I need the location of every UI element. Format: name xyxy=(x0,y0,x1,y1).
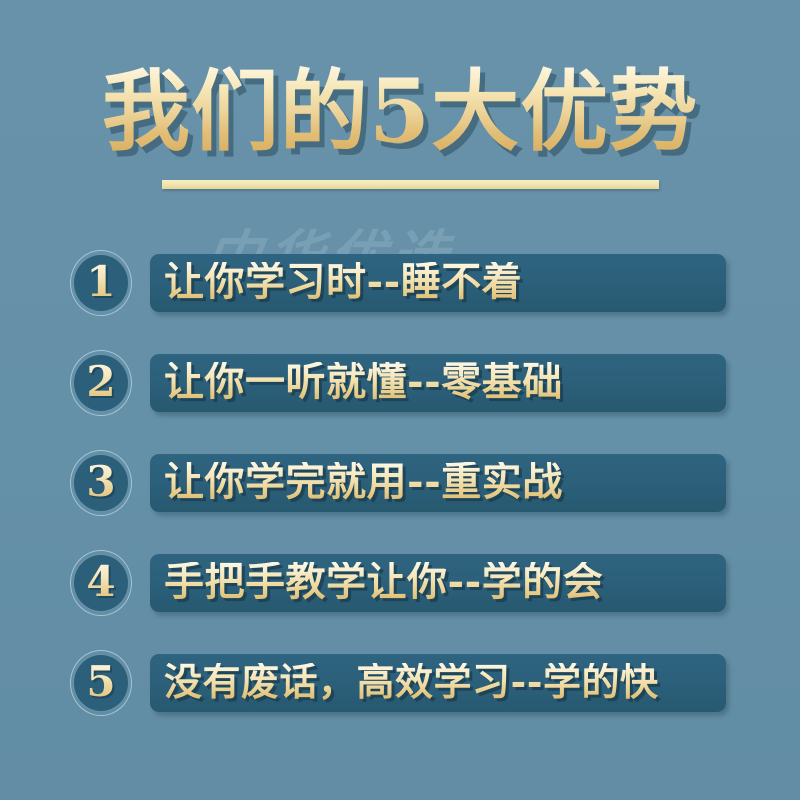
badge-number: 1 xyxy=(86,261,115,305)
advantage-list: 1 让你学习时--睡不着 2 让你一听就懂--零基础 3 让你学 xyxy=(0,0,800,800)
advantage-label: 没有废话，高效学习--学的快 xyxy=(164,663,659,701)
advantage-bar[interactable]: 让你学完就用--重实战 xyxy=(150,454,726,512)
badge-number: 5 xyxy=(86,661,115,705)
badge-number: 4 xyxy=(86,561,115,605)
promo-poster: 中华优选 我们的5大优势 1 让你学习时--睡不着 2 让你一听就懂--零基础 xyxy=(0,0,800,800)
list-item[interactable]: 4 手把手教学让你--学的会 xyxy=(0,551,800,615)
number-badge: 2 xyxy=(70,350,132,416)
number-badge: 4 xyxy=(70,550,132,616)
list-item[interactable]: 2 让你一听就懂--零基础 xyxy=(0,351,800,415)
advantage-label: 手把手教学让你--学的会 xyxy=(164,562,603,602)
list-item[interactable]: 3 让你学完就用--重实战 xyxy=(0,451,800,515)
list-item[interactable]: 5 没有废话，高效学习--学的快 xyxy=(0,651,800,715)
number-badge: 5 xyxy=(70,650,132,716)
number-badge: 1 xyxy=(70,250,132,316)
badge-number: 2 xyxy=(86,361,115,405)
advantage-bar[interactable]: 让你一听就懂--零基础 xyxy=(150,354,726,412)
advantage-bar[interactable]: 没有废话，高效学习--学的快 xyxy=(150,654,726,712)
advantage-bar[interactable]: 手把手教学让你--学的会 xyxy=(150,554,726,612)
list-item[interactable]: 1 让你学习时--睡不着 xyxy=(0,251,800,315)
advantage-label: 让你学完就用--重实战 xyxy=(164,462,563,502)
number-badge: 3 xyxy=(70,450,132,516)
advantage-label: 让你学习时--睡不着 xyxy=(164,262,522,302)
badge-number: 3 xyxy=(86,461,115,505)
advantage-bar[interactable]: 让你学习时--睡不着 xyxy=(150,254,726,312)
advantage-label: 让你一听就懂--零基础 xyxy=(164,362,563,402)
